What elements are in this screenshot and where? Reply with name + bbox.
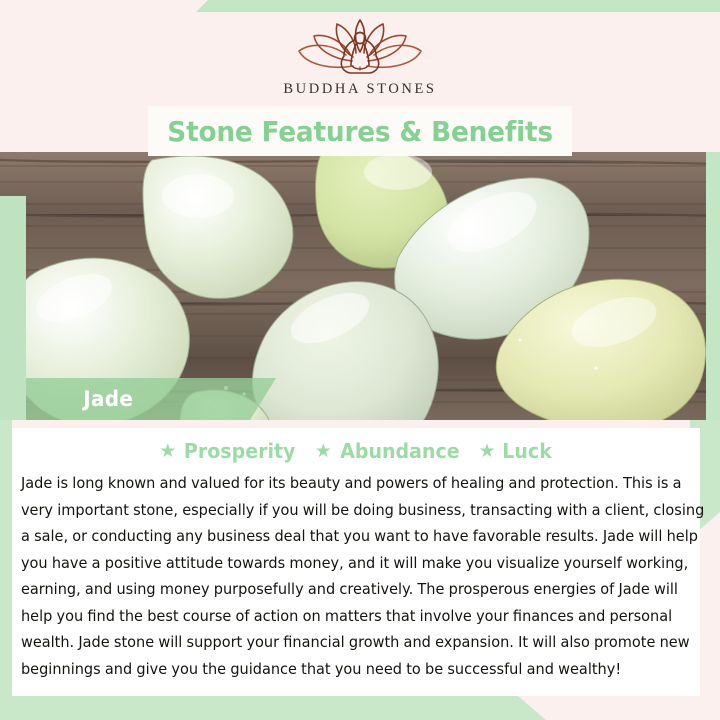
photo-caption-label: Jade — [83, 387, 133, 411]
benefit-item: ★ Luck — [479, 439, 553, 463]
benefit-item: ★ Prosperity — [159, 439, 298, 463]
benefit-label: Prosperity — [184, 439, 296, 463]
benefit-item: ★ Abundance — [315, 439, 463, 463]
lotus-meditation-icon — [294, 18, 426, 80]
star-icon: ★ — [315, 442, 332, 461]
brand-name: BUDDHA STONES — [283, 81, 436, 98]
page-title-banner: Stone Features & Benefits — [148, 106, 572, 156]
star-icon: ★ — [159, 442, 176, 461]
benefit-label: Abundance — [340, 439, 459, 463]
photo-left-accent — [0, 196, 26, 420]
photo-caption-band: Jade — [26, 378, 276, 420]
infographic-page: BUDDHA STONES — [0, 0, 720, 720]
description-text: Jade is long known and valued for its be… — [20, 470, 706, 682]
description-card: ★ Prosperity ★ Abundance ★ Luck Jade is … — [12, 428, 700, 696]
benefits-row: ★ Prosperity ★ Abundance ★ Luck — [20, 436, 692, 466]
logo-lockup: BUDDHA STONES — [0, 12, 720, 112]
benefit-label: Luck — [502, 439, 552, 463]
left-accent-strip — [0, 420, 12, 720]
star-icon: ★ — [479, 442, 496, 461]
top-accent-band — [0, 0, 720, 12]
brand-header: BUDDHA STONES — [0, 12, 720, 112]
page-title: Stone Features & Benefits — [167, 115, 553, 148]
photo-right-accent — [706, 152, 720, 420]
